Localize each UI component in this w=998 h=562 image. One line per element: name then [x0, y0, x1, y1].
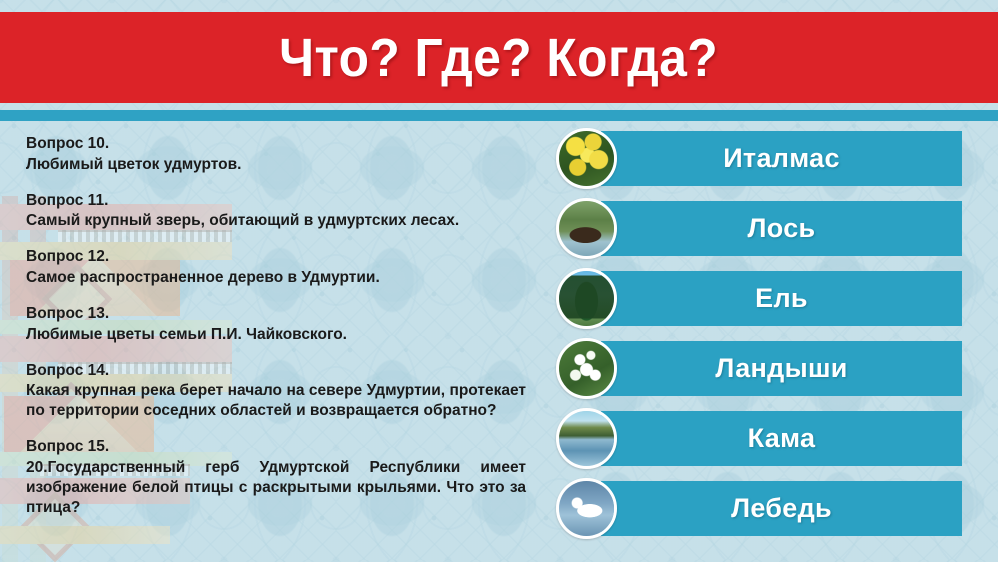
- photo-fill: [559, 131, 614, 186]
- answer-bar[interactable]: Италмас: [601, 131, 962, 186]
- question-text: 20.Государственный герб Удмуртской Респу…: [26, 458, 526, 517]
- answer-bar[interactable]: Кама: [601, 411, 962, 466]
- page-title: Что? Где? Когда?: [279, 27, 718, 89]
- photo-fill: [559, 341, 614, 396]
- river-photo: [556, 408, 617, 469]
- question-heading: Вопрос 15.: [26, 437, 526, 457]
- spruce-tree-photo: [556, 268, 617, 329]
- answer-row[interactable]: Ландыши: [556, 341, 976, 396]
- answer-label: Ель: [755, 283, 808, 314]
- moose-photo: [556, 198, 617, 259]
- answer-label: Кама: [748, 423, 816, 454]
- question-text: Любимые цветы семьи П.И. Чайковского.: [26, 325, 526, 345]
- swan-photo: [556, 478, 617, 539]
- photo-fill: [559, 201, 614, 256]
- photo-fill: [559, 481, 614, 536]
- answer-label: Ландыши: [715, 353, 847, 384]
- photo-fill: [559, 411, 614, 466]
- accent-strip: [0, 110, 998, 121]
- question-block: Вопрос 13. Любимые цветы семьи П.И. Чайк…: [26, 304, 526, 345]
- answer-row[interactable]: Италмас: [556, 131, 976, 186]
- answer-row[interactable]: Лебедь: [556, 481, 976, 536]
- answer-label: Италмас: [723, 143, 840, 174]
- yellow-flowers-photo: [556, 128, 617, 189]
- questions-column: Вопрос 10. Любимый цветок удмуртов. Вопр…: [26, 134, 526, 533]
- photo-fill: [559, 271, 614, 326]
- answer-bar[interactable]: Лось: [601, 201, 962, 256]
- question-text: Самый крупный зверь, обитающий в удмуртс…: [26, 211, 526, 231]
- question-heading: Вопрос 12.: [26, 247, 526, 267]
- question-text: Самое распространенное дерево в Удмуртии…: [26, 268, 526, 288]
- question-heading: Вопрос 14.: [26, 361, 526, 381]
- question-block: Вопрос 15. 20.Государственный герб Удмур…: [26, 437, 526, 517]
- question-text: Любимый цветок удмуртов.: [26, 155, 526, 175]
- slide-canvas: Что? Где? Когда? Вопрос 10. Любимый цвет…: [0, 0, 998, 562]
- answer-label: Лось: [748, 213, 816, 244]
- question-block: Вопрос 10. Любимый цветок удмуртов.: [26, 134, 526, 175]
- question-block: Вопрос 14. Какая крупная река берет нача…: [26, 361, 526, 421]
- answer-bar[interactable]: Ель: [601, 271, 962, 326]
- answers-column: Италмас Лось Ель Ландыши: [556, 131, 976, 551]
- answer-bar[interactable]: Ландыши: [601, 341, 962, 396]
- question-heading: Вопрос 11.: [26, 191, 526, 211]
- question-block: Вопрос 11. Самый крупный зверь, обитающи…: [26, 191, 526, 232]
- question-heading: Вопрос 13.: [26, 304, 526, 324]
- answer-bar[interactable]: Лебедь: [601, 481, 962, 536]
- question-heading: Вопрос 10.: [26, 134, 526, 154]
- question-text: Какая крупная река берет начало на север…: [26, 381, 526, 421]
- answer-row[interactable]: Кама: [556, 411, 976, 466]
- title-banner: Что? Где? Когда?: [0, 12, 998, 103]
- question-block: Вопрос 12. Самое распространенное дерево…: [26, 247, 526, 288]
- answer-label: Лебедь: [731, 493, 832, 524]
- lily-of-the-valley-photo: [556, 338, 617, 399]
- answer-row[interactable]: Ель: [556, 271, 976, 326]
- answer-row[interactable]: Лось: [556, 201, 976, 256]
